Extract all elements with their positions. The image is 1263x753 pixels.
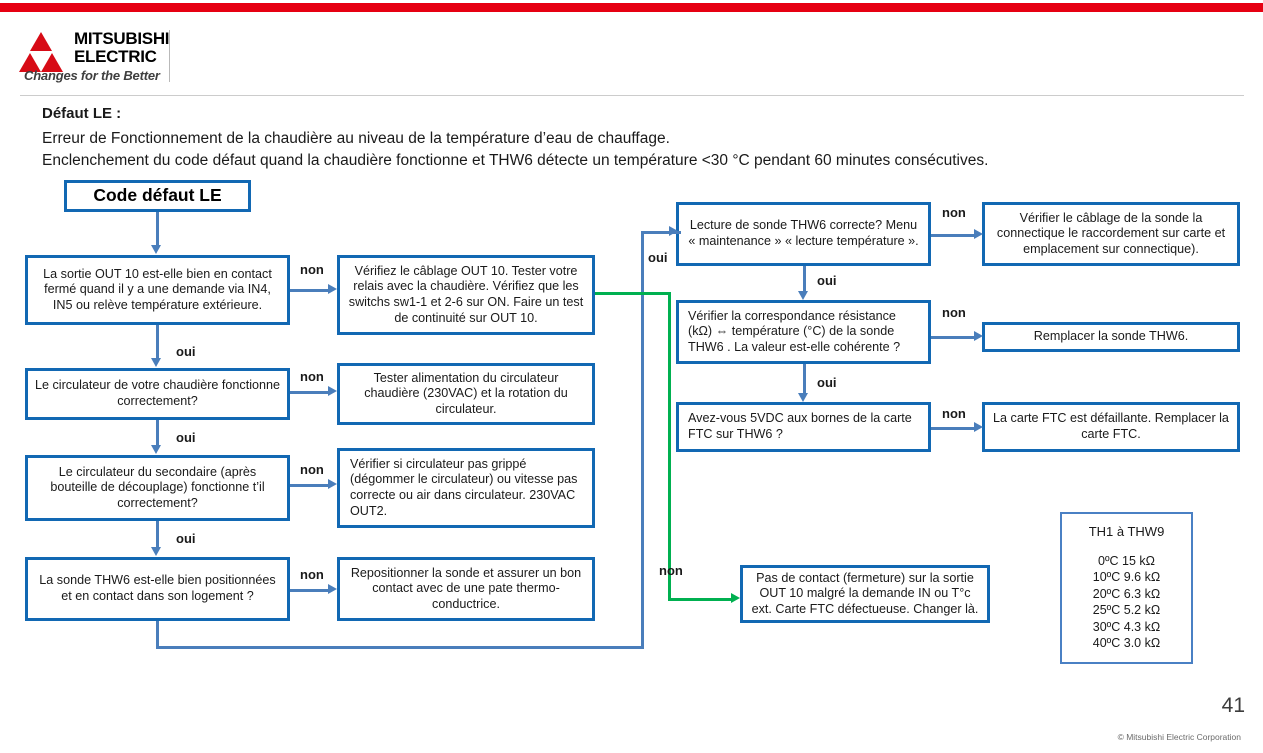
arrow-q3-non <box>328 479 337 489</box>
connector-q3-to-q4 <box>156 521 159 547</box>
mitsubishi-electric-logo: MITSUBISHI ELECTRIC Changes for the Bett… <box>14 30 314 88</box>
arrow-into-q5 <box>669 226 678 236</box>
flow-action-replace-thw6: Remplacer la sonde THW6. <box>982 322 1240 352</box>
label-non-q6: non <box>942 305 966 320</box>
resistance-reference-table: TH1 à THW9 0ºC 15 kΩ 10ºC 9.6 kΩ 20ºC 6.… <box>1060 512 1193 664</box>
label-oui-q1: oui <box>176 344 196 359</box>
brand-name-line1: MITSUBISHI <box>74 30 169 48</box>
fault-title: Défaut LE : <box>42 105 121 122</box>
page-number: 41 <box>1222 694 1245 718</box>
resistance-row: 20ºC 6.3 kΩ <box>1062 586 1191 603</box>
label-oui-q3: oui <box>176 531 196 546</box>
resistance-table-spacer <box>1062 540 1191 553</box>
connector-q1-non <box>290 289 330 292</box>
flow-action-test-pump-supply: Tester alimentation du circulateur chaud… <box>337 363 595 425</box>
brand-tagline: Changes for the Better <box>24 68 160 83</box>
connector-q2-to-q3 <box>156 420 159 445</box>
connector-q7-non <box>931 427 976 430</box>
arrow-q6-to-q7 <box>798 393 808 402</box>
connector-bottom-horizontal <box>156 646 644 649</box>
flow-result-no-contact-out10: Pas de contact (fermeture) sur la sortie… <box>740 565 990 623</box>
connector-green-vertical <box>668 292 671 600</box>
label-oui-q6: oui <box>817 375 837 390</box>
label-non-q2: non <box>300 369 324 384</box>
arrow-q6-non <box>974 331 983 341</box>
label-oui-q2: oui <box>176 430 196 445</box>
connector-q4-down <box>156 621 159 648</box>
connector-q2-non <box>290 391 330 394</box>
flow-start-node: Code défaut LE <box>64 180 251 212</box>
arrow-q5-non <box>974 229 983 239</box>
arrow-q1-to-q2 <box>151 358 161 367</box>
connector-q6-non <box>931 336 976 339</box>
mitsubishi-three-diamonds-icon <box>14 32 68 72</box>
connector-green-from-a1 <box>595 292 671 295</box>
resistance-row: 0ºC 15 kΩ <box>1062 553 1191 570</box>
resistance-table-rows: 0ºC 15 kΩ 10ºC 9.6 kΩ 20ºC 6.3 kΩ 25ºC 5… <box>1062 553 1191 652</box>
flow-question-out10: La sortie OUT 10 est-elle bien en contac… <box>25 255 290 325</box>
connector-q5-non <box>931 234 976 237</box>
flow-action-check-probe-wiring: Vérifier le câblage de la sonde la conne… <box>982 202 1240 266</box>
label-non-green: non <box>659 563 683 578</box>
flow-action-replace-ftc: La carte FTC est défaillante. Remplacer … <box>982 402 1240 452</box>
flow-question-secondary-pump: Le circulateur du secondaire (après bout… <box>25 455 290 521</box>
brand-name-line2: ELECTRIC <box>74 48 169 66</box>
label-non-q3: non <box>300 462 324 477</box>
brand-name: MITSUBISHI ELECTRIC <box>74 30 169 65</box>
arrow-q5-to-q6 <box>798 291 808 300</box>
connector-q3-non <box>290 484 330 487</box>
top-white-strip <box>0 0 1263 3</box>
label-non-q5: non <box>942 205 966 220</box>
arrow-q3-to-q4 <box>151 547 161 556</box>
flow-action-check-wiring-out10: Vérifiez le câblage OUT 10. Tester votre… <box>337 255 595 335</box>
resistance-row: 40ºC 3.0 kΩ <box>1062 635 1191 652</box>
fault-description-line2: Enclenchement du code défaut quand la ch… <box>42 152 988 170</box>
resistance-table-title: TH1 à THW9 <box>1062 524 1191 540</box>
flow-question-thw6-reading: Lecture de sonde THW6 correcte? Menu « m… <box>676 202 931 266</box>
arrow-start-to-q1 <box>151 245 161 254</box>
header-rule <box>20 95 1244 96</box>
label-oui-into-q5: oui <box>648 250 668 265</box>
label-oui-q5: oui <box>817 273 837 288</box>
connector-q4-non <box>290 589 330 592</box>
label-non-q4: non <box>300 567 324 582</box>
resistance-row: 25ºC 5.2 kΩ <box>1062 602 1191 619</box>
logo-divider <box>169 30 170 82</box>
flow-question-boiler-pump: Le circulateur de votre chaudière foncti… <box>25 368 290 420</box>
arrow-q7-non <box>974 422 983 432</box>
fault-description-line1: Erreur de Fonctionnement de la chaudière… <box>42 130 670 148</box>
connector-q6-to-q7 <box>803 364 806 394</box>
connector-q1-to-q2 <box>156 325 159 359</box>
flow-question-thw6-position: La sonde THW6 est-elle bien positionnées… <box>25 557 290 621</box>
connector-start-to-q1 <box>156 212 159 246</box>
arrow-q1-non <box>328 284 337 294</box>
flow-action-reposition-probe: Repositionner la sonde et assurer un bon… <box>337 557 595 621</box>
connector-q5-to-q6 <box>803 266 806 292</box>
connector-green-to-result <box>668 598 734 601</box>
label-non-q1: non <box>300 262 324 277</box>
arrow-q4-non <box>328 584 337 594</box>
copyright-notice: © Mitsubishi Electric Corporation <box>1118 732 1241 742</box>
arrow-q2-non <box>328 386 337 396</box>
resistance-row: 10ºC 9.6 kΩ <box>1062 569 1191 586</box>
flow-question-5vdc: Avez-vous 5VDC aux bornes de la carte FT… <box>676 402 931 452</box>
label-non-q7: non <box>942 406 966 421</box>
flow-question-resistance-temp: Vérifier la correspondance résistance (k… <box>676 300 931 364</box>
flow-action-check-pump-seized: Vérifier si circulateur pas grippé (dégo… <box>337 448 595 528</box>
arrow-green-to-result <box>731 593 740 603</box>
connector-right-vertical-up <box>641 233 644 648</box>
arrow-q2-to-q3 <box>151 445 161 454</box>
resistance-row: 30ºC 4.3 kΩ <box>1062 619 1191 636</box>
